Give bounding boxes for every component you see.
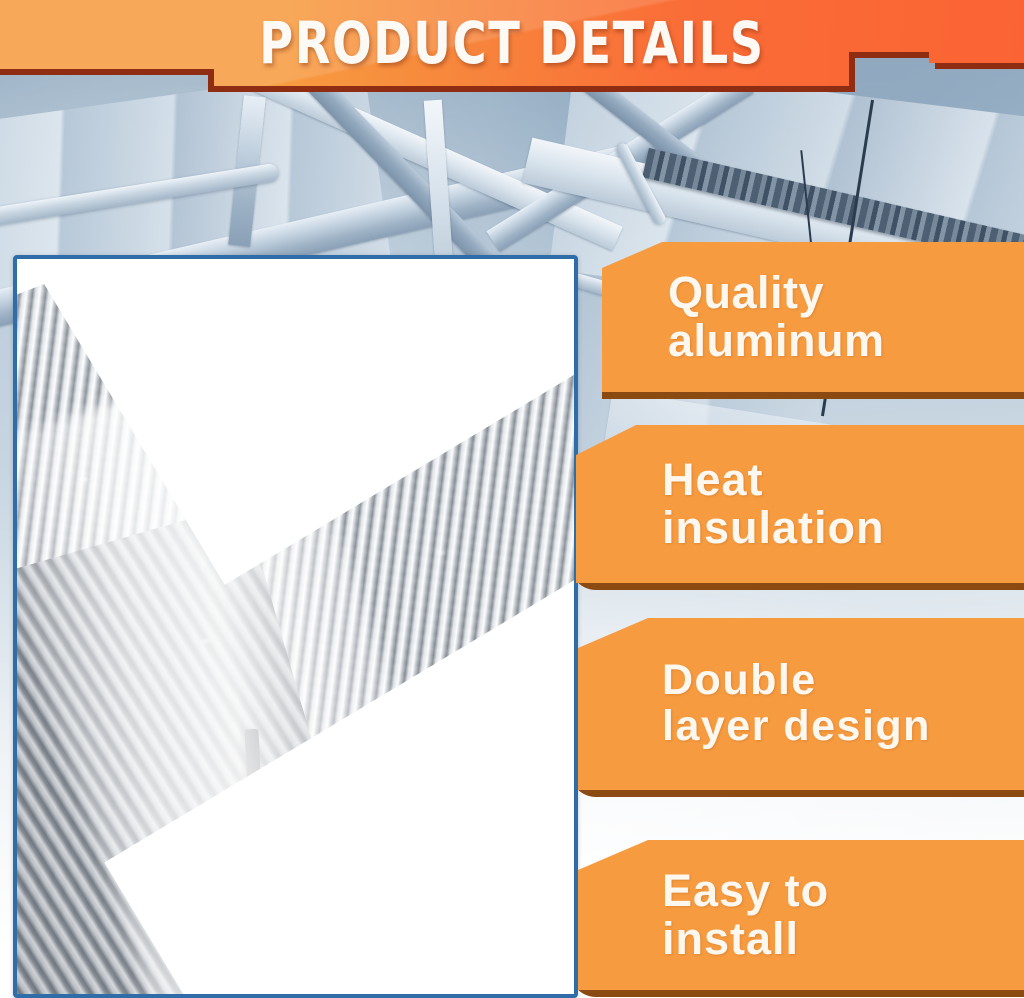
page-title: PRODUCT DETAILS [102,0,921,86]
feature-label: Heat insulation [662,456,1014,551]
feature-callout-double-layer-design: Double layer design [570,618,1024,790]
product-photo-image [17,259,574,994]
feature-callout-quality-aluminum: Quality aluminum [590,242,1024,392]
feature-label: Double layer design [662,658,1018,749]
header-banner: PRODUCT DETAILS [0,0,1024,104]
feature-label: Quality aluminum [668,269,1014,364]
product-details-infographic: PRODUCT DETAILS Quality aluminum Heat in… [0,0,1024,998]
feature-callout-heat-insulation: Heat insulation [570,425,1024,583]
feature-label: Easy to install [662,867,1014,962]
product-photo-inset [13,255,578,998]
feature-callout-easy-to-install: Easy to install [570,840,1024,990]
